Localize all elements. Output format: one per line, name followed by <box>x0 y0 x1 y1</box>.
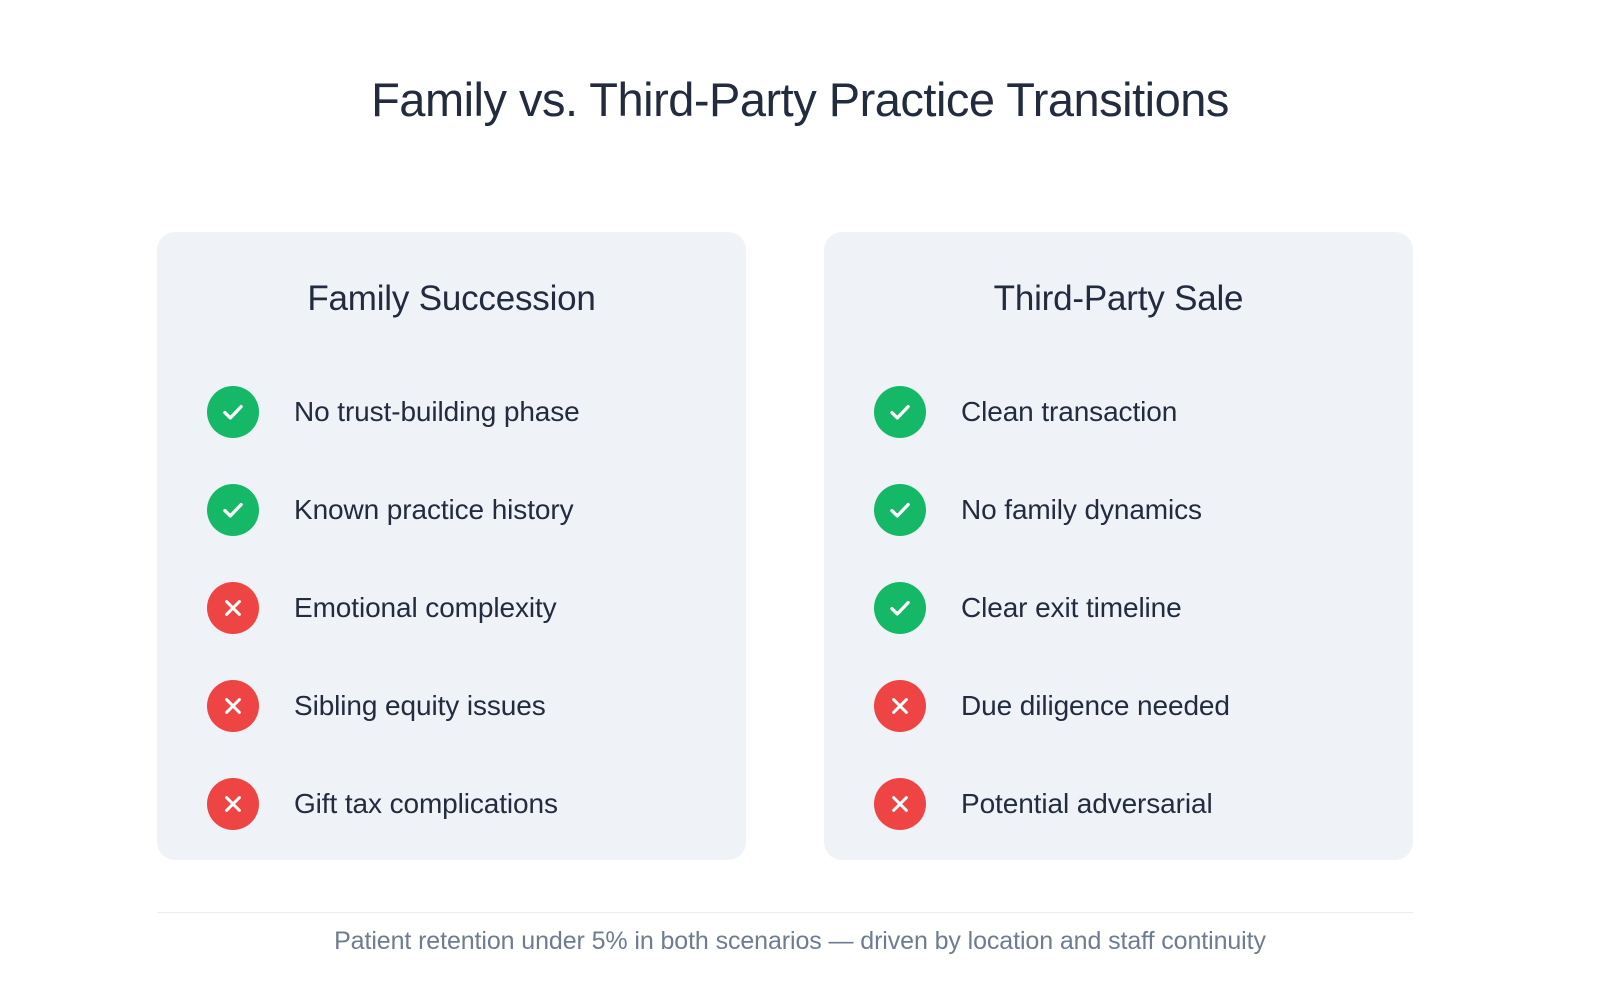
cross-icon <box>207 778 259 830</box>
list-item: Potential adversarial <box>874 778 1413 830</box>
list-item-label: No trust-building phase <box>294 396 580 428</box>
list-item: Known practice history <box>207 484 746 536</box>
list-item-label: Emotional complexity <box>294 592 557 624</box>
list-item: No trust-building phase <box>207 386 746 438</box>
check-icon <box>874 484 926 536</box>
card-title-third-party-sale: Third-Party Sale <box>824 278 1413 320</box>
cross-icon <box>207 680 259 732</box>
list-item: Due diligence needed <box>874 680 1413 732</box>
pros-cons-list-third-party-sale: Clean transaction No family dynamics Cle… <box>824 386 1413 830</box>
list-item-label: Clean transaction <box>961 396 1177 428</box>
list-item: No family dynamics <box>874 484 1413 536</box>
check-icon <box>207 484 259 536</box>
card-title-family-succession: Family Succession <box>157 278 746 320</box>
list-item: Clear exit timeline <box>874 582 1413 634</box>
cross-icon <box>874 778 926 830</box>
list-item-label: Gift tax complications <box>294 788 558 820</box>
comparison-cards-row: Family Succession No trust-building phas… <box>157 232 1413 860</box>
comparison-infographic: Family vs. Third-Party Practice Transiti… <box>0 0 1600 1000</box>
cross-icon <box>874 680 926 732</box>
list-item-label: Known practice history <box>294 494 573 526</box>
footer-divider <box>157 912 1413 913</box>
footer-note: Patient retention under 5% in both scena… <box>0 924 1600 959</box>
list-item: Emotional complexity <box>207 582 746 634</box>
check-icon <box>874 386 926 438</box>
list-item-label: Clear exit timeline <box>961 592 1182 624</box>
page-title: Family vs. Third-Party Practice Transiti… <box>0 72 1600 128</box>
check-icon <box>207 386 259 438</box>
list-item: Sibling equity issues <box>207 680 746 732</box>
pros-cons-list-family-succession: No trust-building phase Known practice h… <box>157 386 746 830</box>
list-item-label: Sibling equity issues <box>294 690 546 722</box>
list-item: Clean transaction <box>874 386 1413 438</box>
list-item-label: Potential adversarial <box>961 788 1213 820</box>
list-item-label: Due diligence needed <box>961 690 1230 722</box>
card-third-party-sale: Third-Party Sale Clean transaction No fa… <box>824 232 1413 860</box>
card-family-succession: Family Succession No trust-building phas… <box>157 232 746 860</box>
cross-icon <box>207 582 259 634</box>
list-item: Gift tax complications <box>207 778 746 830</box>
check-icon <box>874 582 926 634</box>
list-item-label: No family dynamics <box>961 494 1202 526</box>
